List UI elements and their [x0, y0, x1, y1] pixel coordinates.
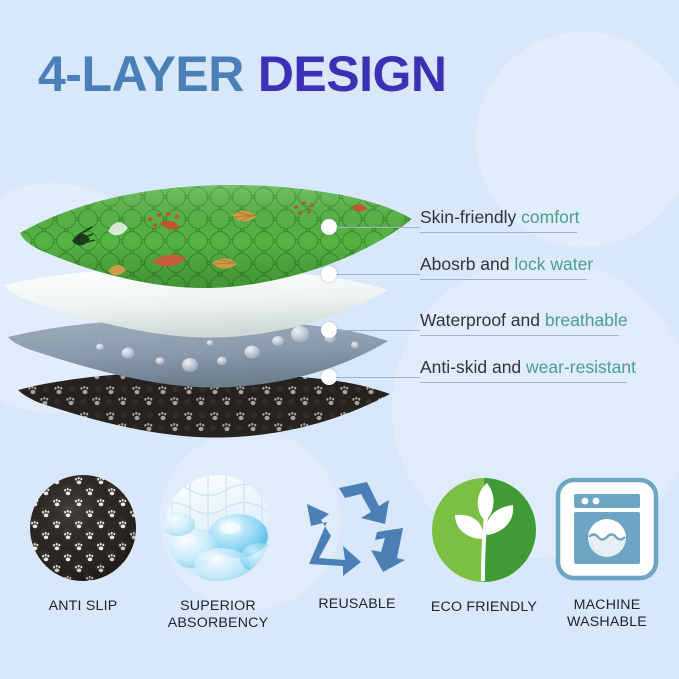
- feature-caption: ECO FRIENDLY: [424, 599, 544, 616]
- feature-reusable: REUSABLE: [292, 474, 422, 613]
- feature-caption: SUPERIOR ABSORBENCY: [148, 598, 288, 632]
- callout-lead-line: [336, 377, 420, 378]
- callout-label-layer-4: Anti-skid and wear-resistant: [420, 357, 636, 378]
- feature-caption: ANTI SLIP: [13, 598, 153, 615]
- title-part-design: DESIGN: [258, 46, 447, 102]
- paw-print-fabric-icon: [13, 474, 153, 587]
- feature-caption: REUSABLE: [292, 596, 422, 613]
- leaf-sprout-icon: [424, 474, 544, 588]
- callout-highlight-text: wear-resistant: [526, 357, 636, 377]
- page-title: 4-LAYERDESIGN: [38, 48, 447, 101]
- callout-label-layer-2: Abosrb and lock water: [420, 254, 593, 275]
- callout-dot-layer-4: [321, 369, 337, 385]
- layer-stack-illustration: [0, 175, 430, 465]
- washing-machine-icon: [547, 474, 667, 586]
- callout-lead-line: [336, 330, 420, 331]
- feature-eco-friendly: ECO FRIENDLY: [424, 474, 544, 616]
- feature-caption: MACHINE WASHABLE: [547, 597, 667, 631]
- callout-underline: [420, 382, 627, 383]
- callout-dot-layer-1: [321, 219, 337, 235]
- callout-dot-layer-2: [321, 266, 337, 282]
- callout-highlight-text: lock water: [514, 254, 593, 274]
- feature-superior-absorbency: SUPERIOR ABSORBENCY: [148, 474, 288, 632]
- callout-lead-text: Abosrb and: [420, 254, 510, 274]
- callout-highlight-text: comfort: [521, 207, 579, 227]
- layer-green-top: [20, 185, 412, 288]
- callout-lead-text: Waterproof and: [420, 310, 540, 330]
- callout-lead-line: [336, 274, 420, 275]
- callout-lead-text: Skin-friendly: [420, 207, 516, 227]
- feature-machine-washable: MACHINE WASHABLE: [547, 474, 667, 631]
- callout-highlight-text: breathable: [545, 310, 628, 330]
- callout-underline: [420, 335, 619, 336]
- feature-anti-slip: ANTI SLIP: [13, 474, 153, 615]
- callout-lead-line: [336, 227, 420, 228]
- callout-label-layer-1: Skin-friendly comfort: [420, 207, 580, 228]
- recycle-icon: [292, 474, 422, 585]
- callout-label-layer-3: Waterproof and breathable: [420, 310, 628, 331]
- callout-underline: [420, 279, 587, 280]
- callout-underline: [420, 232, 577, 233]
- water-droplet-quilt-icon: [148, 474, 288, 587]
- title-part-layer: 4-LAYER: [38, 46, 244, 102]
- callout-dot-layer-3: [321, 322, 337, 338]
- infographic-canvas: 4-LAYERDESIGN: [0, 0, 679, 679]
- feature-icon-row: ANTI SLIP: [0, 474, 679, 659]
- callout-lead-text: Anti-skid and: [420, 357, 521, 377]
